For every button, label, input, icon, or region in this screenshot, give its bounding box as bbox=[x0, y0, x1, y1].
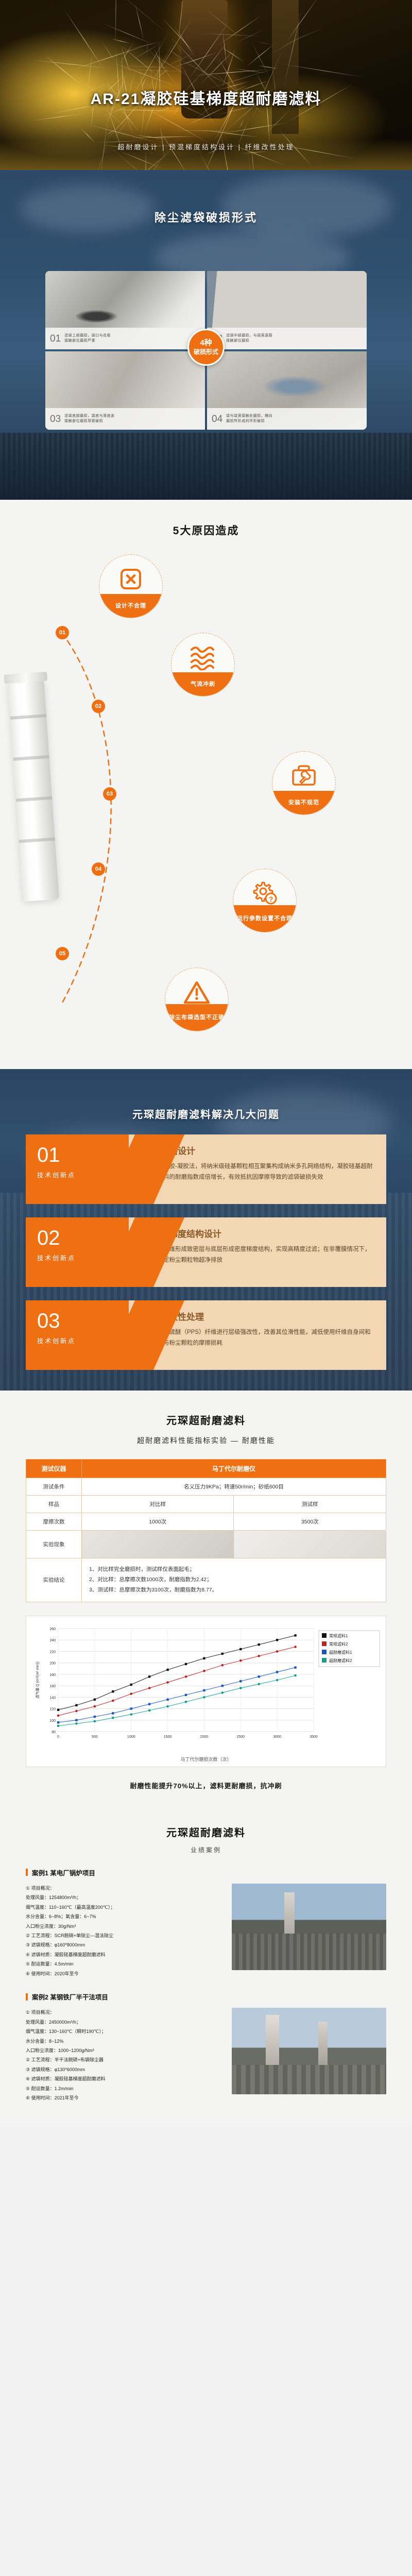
cause-label-02: 气流冲刷 bbox=[171, 672, 234, 696]
experiment-notes: 1、对比样完全磨损时，测试样仅表面起毛； 2、对比样：总摩擦次数1000次，耐磨… bbox=[82, 1558, 386, 1602]
causes-section: 5大原因造成 01 设计不合理 02 bbox=[0, 500, 412, 1069]
cloud-shape bbox=[221, 175, 391, 237]
phenomenon-sample-left bbox=[82, 1531, 234, 1558]
cause-card-02[interactable]: 气流冲刷 bbox=[171, 633, 235, 697]
feature-card-lead: 01 技术创新点 bbox=[26, 1134, 129, 1204]
factory-backdrop bbox=[0, 433, 412, 500]
causes-heading: 5大原因造成 bbox=[0, 522, 412, 538]
cause-card-01[interactable]: 设计不合理 bbox=[99, 554, 163, 618]
feature-title: 超耐磨设计 bbox=[151, 1144, 375, 1157]
cause-node-05[interactable]: 05 bbox=[56, 947, 69, 960]
damage-number: 01 bbox=[50, 334, 61, 344]
feature-desc: 超细纤维形成致密层与底层形成密度梯度结构，实现高精度过滤；在非覆膜情况下，可满足… bbox=[151, 1244, 375, 1266]
case-fact-line: ④ 滤袋材质：凝胶硅基梯度超耐磨滤料 bbox=[26, 2074, 225, 2083]
cause-node-03[interactable]: 03 bbox=[103, 787, 116, 801]
case-body: ① 项目概况：处理风量：1254800m³/h；烟气温度：110~160℃（最高… bbox=[26, 1884, 386, 1978]
toolbox-wrench-icon bbox=[272, 760, 335, 792]
damage-text: 滤袋底部磨损，袋底与笼底盖接触部位磨损导致破损 bbox=[64, 414, 115, 424]
damage-caption: 01 滤袋上部磨损，袋口与花板接触部位磨损严重 bbox=[45, 328, 205, 349]
damage-card[interactable]: 03 滤袋底部磨损，袋底与笼底盖接触部位磨损导致破损 bbox=[45, 351, 205, 430]
feature-card-02[interactable]: 02 技术创新点 预混梯度结构设计 超细纤维形成致密层与底层形成密度梯度结构，实… bbox=[26, 1217, 386, 1287]
note-line: 3、测试样：总摩擦次数为3100次，耐磨指数为8.77。 bbox=[89, 1585, 379, 1596]
svg-text:2500: 2500 bbox=[236, 1735, 245, 1739]
table-row: 测试条件 名义压力9KPa；转速50r/min；砂纸600目 bbox=[26, 1478, 386, 1496]
damage-card[interactable]: 02 滤袋中部磨损，与袋笼竖筋接触部位磨损 bbox=[207, 271, 367, 349]
feature-title: 预混梯度结构设计 bbox=[151, 1227, 375, 1240]
case-title-row: 案例2 某钢铁厂半干法项目 bbox=[26, 1992, 386, 2002]
svg-text:80: 80 bbox=[51, 1731, 56, 1734]
case-title: 案例2 某钢铁厂半干法项目 bbox=[32, 1992, 108, 2002]
th-instrument-value: 马丁代尔耐磨仪 bbox=[82, 1460, 386, 1478]
feature-number: 03 bbox=[37, 1311, 129, 1331]
hero-banner: AR-21凝胶硅基梯度超耐磨滤料 超耐磨设计 | 预混梯度结构设计 | 纤维改性… bbox=[0, 0, 412, 170]
solutions-heading: 元琛超耐磨滤料解决几大问题 bbox=[0, 1069, 412, 1121]
feature-tag: 技术创新点 bbox=[37, 1336, 129, 1345]
row-label: 实验现象 bbox=[26, 1531, 82, 1558]
note-line: 1、对比样完全磨损时，测试样仅表面起毛； bbox=[89, 1565, 379, 1575]
th-instrument-label: 测试仪器 bbox=[26, 1460, 82, 1478]
badge-count: 4种 bbox=[200, 338, 212, 348]
svg-text:160: 160 bbox=[49, 1685, 56, 1688]
accent-bar bbox=[26, 1869, 28, 1876]
damage-card[interactable]: 04 袋与袋笼接触处磨损，横向磨损所形成的环形破损 bbox=[207, 351, 367, 430]
svg-text:1500: 1500 bbox=[164, 1735, 172, 1739]
case-fact-line: ① 项目概况： bbox=[26, 2008, 225, 2017]
table-header-row: 测试仪器 马丁代尔耐磨仪 bbox=[26, 1460, 386, 1478]
row-label: 实验结论 bbox=[26, 1558, 82, 1602]
case-fact-line: ⑤ 耐运数量：1.2m/min bbox=[26, 2084, 225, 2093]
svg-text:500: 500 bbox=[92, 1735, 98, 1739]
case-fact-line: ⑤ 耐运数量：4.5m/min bbox=[26, 1959, 225, 1969]
svg-text:240: 240 bbox=[49, 1639, 56, 1642]
feature-card-lead: 03 技术创新点 bbox=[26, 1300, 129, 1370]
warning-triangle-icon bbox=[165, 976, 228, 1008]
lab-section: 元琛超耐磨滤料 超耐磨滤料性能指标实验 — 耐磨性能 测试仪器 马丁代尔耐磨仪 … bbox=[0, 1391, 412, 1806]
svg-text:0: 0 bbox=[57, 1735, 59, 1739]
page-title: AR-21凝胶硅基梯度超耐磨滤料 bbox=[0, 86, 412, 109]
cases-heading: 元琛超耐磨滤料 bbox=[0, 1824, 412, 1839]
case-item-2[interactable]: 案例2 某钢铁厂半干法项目 ① 项目概况：处理风量：2450000m³/h；烟气… bbox=[26, 1992, 386, 2103]
svg-text:常规滤料1: 常规滤料1 bbox=[329, 1633, 348, 1638]
case-fact-line: 水分含量：6~8%；氧含量：6~7% bbox=[26, 1912, 225, 1921]
row-label: 测试条件 bbox=[26, 1478, 82, 1496]
svg-text:透气量 Q (m³/(m²·min)): 透气量 Q (m³/(m²·min)) bbox=[35, 1662, 40, 1699]
lab-conclusion: 耐磨性能提升70%以上，滤料更耐磨损，抗冲刷 bbox=[0, 1781, 412, 1790]
case-fact-line: 水分含量：8~12% bbox=[26, 2037, 225, 2046]
chart-xlabel: 马丁代尔磨损次数（次） bbox=[31, 1756, 381, 1762]
row-value-left: 1000次 bbox=[82, 1513, 234, 1531]
svg-text:220: 220 bbox=[49, 1650, 56, 1654]
svg-text:常规滤料2: 常规滤料2 bbox=[329, 1641, 348, 1647]
row-value-right: 测试样 bbox=[234, 1496, 386, 1513]
svg-text:3500: 3500 bbox=[310, 1735, 318, 1739]
cause-node-02[interactable]: 02 bbox=[92, 700, 105, 713]
filter-bag-cap bbox=[4, 672, 47, 684]
svg-text:260: 260 bbox=[49, 1628, 56, 1631]
chart-svg: 8010012014016018020022024026005001000150… bbox=[31, 1622, 381, 1751]
gear-question-icon: ? bbox=[233, 877, 296, 909]
feature-title: 纤维改性处理 bbox=[151, 1310, 375, 1323]
case-fact-line: 入口粉尘浓度：1000~1200g/Nm³ bbox=[26, 2046, 225, 2055]
damage-caption: 03 滤袋底部磨损，袋底与笼底盖接触部位磨损导致破损 bbox=[45, 408, 205, 430]
x-box-icon bbox=[99, 563, 162, 595]
cases-subheading: 业绩案例 bbox=[0, 1845, 412, 1854]
row-value: 名义压力9KPa；转速50r/min；砂纸600目 bbox=[82, 1478, 386, 1496]
cases-section: 元琛超耐磨滤料 业绩案例 案例1 某电厂锅炉项目 ① 项目概况：处理风量：125… bbox=[0, 1806, 412, 2124]
feature-card-lead: 02 技术创新点 bbox=[26, 1217, 129, 1287]
case-item-1[interactable]: 案例1 某电厂锅炉项目 ① 项目概况：处理风量：1254800m³/h；烟气温度… bbox=[26, 1868, 386, 1978]
damage-card[interactable]: 01 滤袋上部磨损，袋口与花板接触部位磨损严重 bbox=[45, 271, 205, 349]
svg-text:140: 140 bbox=[49, 1696, 56, 1700]
causes-radial-diagram: 01 设计不合理 02 气流冲刷 03 bbox=[0, 550, 412, 1060]
case-body: ① 项目概况：处理风量：2450000m³/h；烟气温度：130~160℃（瞬时… bbox=[26, 2008, 386, 2103]
case-fact-line: ② 工艺流程：半干法脱硫+布袋除尘器 bbox=[26, 2055, 225, 2064]
case-fact-line: ⑥ 使用时间：2020年至今 bbox=[26, 1969, 225, 1978]
damage-count-badge: 4种 破损形式 bbox=[187, 329, 225, 366]
row-label: 样品 bbox=[26, 1496, 82, 1513]
case-facts: ① 项目概况：处理风量：1254800m³/h；烟气温度：110~160℃（最高… bbox=[26, 1884, 225, 1978]
svg-text:120: 120 bbox=[49, 1707, 56, 1711]
svg-text:180: 180 bbox=[49, 1673, 56, 1677]
performance-table: 测试仪器 马丁代尔耐磨仪 测试条件 名义压力9KPa；转速50r/min；砂纸6… bbox=[26, 1459, 386, 1602]
damage-text: 滤袋上部磨损，袋口与花板接触部位磨损严重 bbox=[64, 333, 111, 344]
case-fact-line: 入口粉尘浓度：30g/Nm³ bbox=[26, 1922, 225, 1931]
solutions-section: 元琛超耐磨滤料解决几大问题 01 技术创新点 超耐磨设计 采用溶胶-凝胶法，将纳… bbox=[0, 1069, 412, 1391]
case-fact-line: ② 工艺流程：SCR脱硝+单除尘—湿法除尘 bbox=[26, 1931, 225, 1940]
accent-bar bbox=[26, 1993, 28, 2001]
case-fact-line: 烟气温度：110~160℃（最高温度200℃）； bbox=[26, 1903, 225, 1912]
lab-heading: 元琛超耐磨滤料 bbox=[0, 1412, 412, 1427]
case-fact-line: 烟气温度：130~160℃（瞬时190℃）； bbox=[26, 2027, 225, 2036]
row-value-left: 对比样 bbox=[82, 1496, 234, 1513]
cause-node-01[interactable]: 01 bbox=[56, 626, 69, 639]
abrasion-chart: 8010012014016018020022024026005001000150… bbox=[26, 1616, 386, 1767]
cause-card-04[interactable]: ? 运行参数设置不合理 bbox=[233, 869, 297, 933]
feature-desc: 将聚苯硫醚（PPS）纤维进行层级强改性，改善其位滑性能，减低使用纤维自身间和纤维… bbox=[151, 1327, 375, 1349]
cause-label-04: 运行参数设置不合理 bbox=[233, 905, 296, 932]
svg-text:3000: 3000 bbox=[273, 1735, 281, 1739]
feature-card-01[interactable]: 01 技术创新点 超耐磨设计 采用溶胶-凝胶法，将纳米级硅基颗粒相互聚集构成纳米… bbox=[26, 1134, 386, 1204]
damage-text: 袋与袋笼接触处磨损，横向磨损所形成的环形破损 bbox=[226, 414, 272, 424]
airflow-wave-icon bbox=[171, 641, 234, 673]
svg-text:?: ? bbox=[269, 895, 273, 903]
row-value-right: 3500次 bbox=[234, 1513, 386, 1531]
badge-label: 破损形式 bbox=[194, 348, 218, 357]
cause-label-03: 安装不规范 bbox=[272, 791, 335, 815]
case-facts: ① 项目概况：处理风量：2450000m³/h；烟气温度：130~160℃（瞬时… bbox=[26, 2008, 225, 2103]
damage-number: 03 bbox=[50, 414, 61, 424]
table-row-conclusion: 实验结论 1、对比样完全磨损时，测试样仅表面起毛； 2、对比样：总摩擦次数100… bbox=[26, 1558, 386, 1602]
case-fact-line: 处理风量：2450000m³/h； bbox=[26, 2018, 225, 2027]
case-fact-line: ① 项目概况： bbox=[26, 1884, 225, 1893]
case-title: 案例1 某电厂锅炉项目 bbox=[32, 1868, 95, 1877]
damage-forms-section: 除尘滤袋破损形式 01 滤袋上部磨损，袋口与花板接触部位磨损严重 02 滤袋中部… bbox=[0, 170, 412, 500]
row-label: 摩擦次数 bbox=[26, 1513, 82, 1531]
feature-desc: 采用溶胶-凝胶法，将纳米级硅基颗粒相互聚集构成纳米多孔网络结构，凝胶硅基超耐磨滤… bbox=[151, 1161, 375, 1183]
case-fact-line: ③ 滤袋规格：φ130*6000mm bbox=[26, 2065, 225, 2074]
damage-number: 04 bbox=[212, 414, 222, 424]
svg-text:200: 200 bbox=[49, 1662, 56, 1665]
lab-subheading: 超耐磨滤料性能指标实验 — 耐磨性能 bbox=[0, 1435, 412, 1446]
table-row: 摩擦次数 1000次 3500次 bbox=[26, 1513, 386, 1531]
case-fact-line: ④ 滤袋材质：凝胶硅基梯度超耐磨滤料 bbox=[26, 1950, 225, 1959]
table-row-phenomenon: 实验现象 bbox=[26, 1531, 386, 1558]
cause-label-01: 设计不合理 bbox=[99, 594, 162, 618]
feature-tag: 技术创新点 bbox=[37, 1171, 129, 1179]
cause-card-05[interactable]: 除尘布袋选型不正确 bbox=[165, 968, 229, 1031]
svg-text:2000: 2000 bbox=[200, 1735, 209, 1739]
feature-number: 01 bbox=[37, 1145, 129, 1165]
case-fact-line: ⑥ 使用时间：2021年至今 bbox=[26, 2093, 225, 2103]
note-line: 2、对比样：总摩擦次数1000次，耐磨指数为2.42； bbox=[89, 1575, 379, 1585]
case-fact-line: 处理风量：1254800m³/h； bbox=[26, 1893, 225, 1902]
feature-card-03[interactable]: 03 技术创新点 纤维改性处理 将聚苯硫醚（PPS）纤维进行层级强改性，改善其位… bbox=[26, 1300, 386, 1370]
damage-section-heading: 除尘滤袋破损形式 bbox=[0, 209, 412, 225]
damage-text: 滤袋中部磨损，与袋笼竖筋接触部位磨损 bbox=[226, 333, 272, 344]
product-landing-page: AR-21凝胶硅基梯度超耐磨滤料 超耐磨设计 | 预混梯度结构设计 | 纤维改性… bbox=[0, 0, 412, 2124]
feature-tag: 技术创新点 bbox=[37, 1253, 129, 1262]
case-title-row: 案例1 某电厂锅炉项目 bbox=[26, 1868, 386, 1877]
svg-text:超耐磨滤料2: 超耐磨滤料2 bbox=[329, 1658, 352, 1663]
table-row: 样品 对比样 测试样 bbox=[26, 1496, 386, 1513]
phenomenon-sample-right bbox=[234, 1531, 386, 1558]
cause-card-03[interactable]: 安装不规范 bbox=[272, 751, 336, 815]
damage-caption: 04 袋与袋笼接触处磨损，横向磨损所形成的环形破损 bbox=[207, 408, 367, 430]
power-plant-photo bbox=[232, 1884, 386, 1970]
hero-subtitle: 超耐磨设计 | 预混梯度结构设计 | 纤维改性处理 bbox=[0, 142, 412, 151]
case-fact-line: ③ 滤袋规格：φ160*8000mm bbox=[26, 1940, 225, 1950]
cause-label-05: 除尘布袋选型不正确 bbox=[165, 1004, 228, 1031]
damage-caption: 02 滤袋中部磨损，与袋笼竖筋接触部位磨损 bbox=[207, 328, 367, 349]
cause-node-04[interactable]: 04 bbox=[92, 862, 105, 876]
svg-text:100: 100 bbox=[49, 1719, 56, 1723]
feature-number: 02 bbox=[37, 1228, 129, 1248]
filter-bag-illustration bbox=[8, 678, 59, 902]
svg-text:超耐磨滤料1: 超耐磨滤料1 bbox=[329, 1650, 352, 1655]
steel-plant-photo bbox=[232, 2008, 386, 2094]
svg-text:1000: 1000 bbox=[127, 1735, 135, 1739]
